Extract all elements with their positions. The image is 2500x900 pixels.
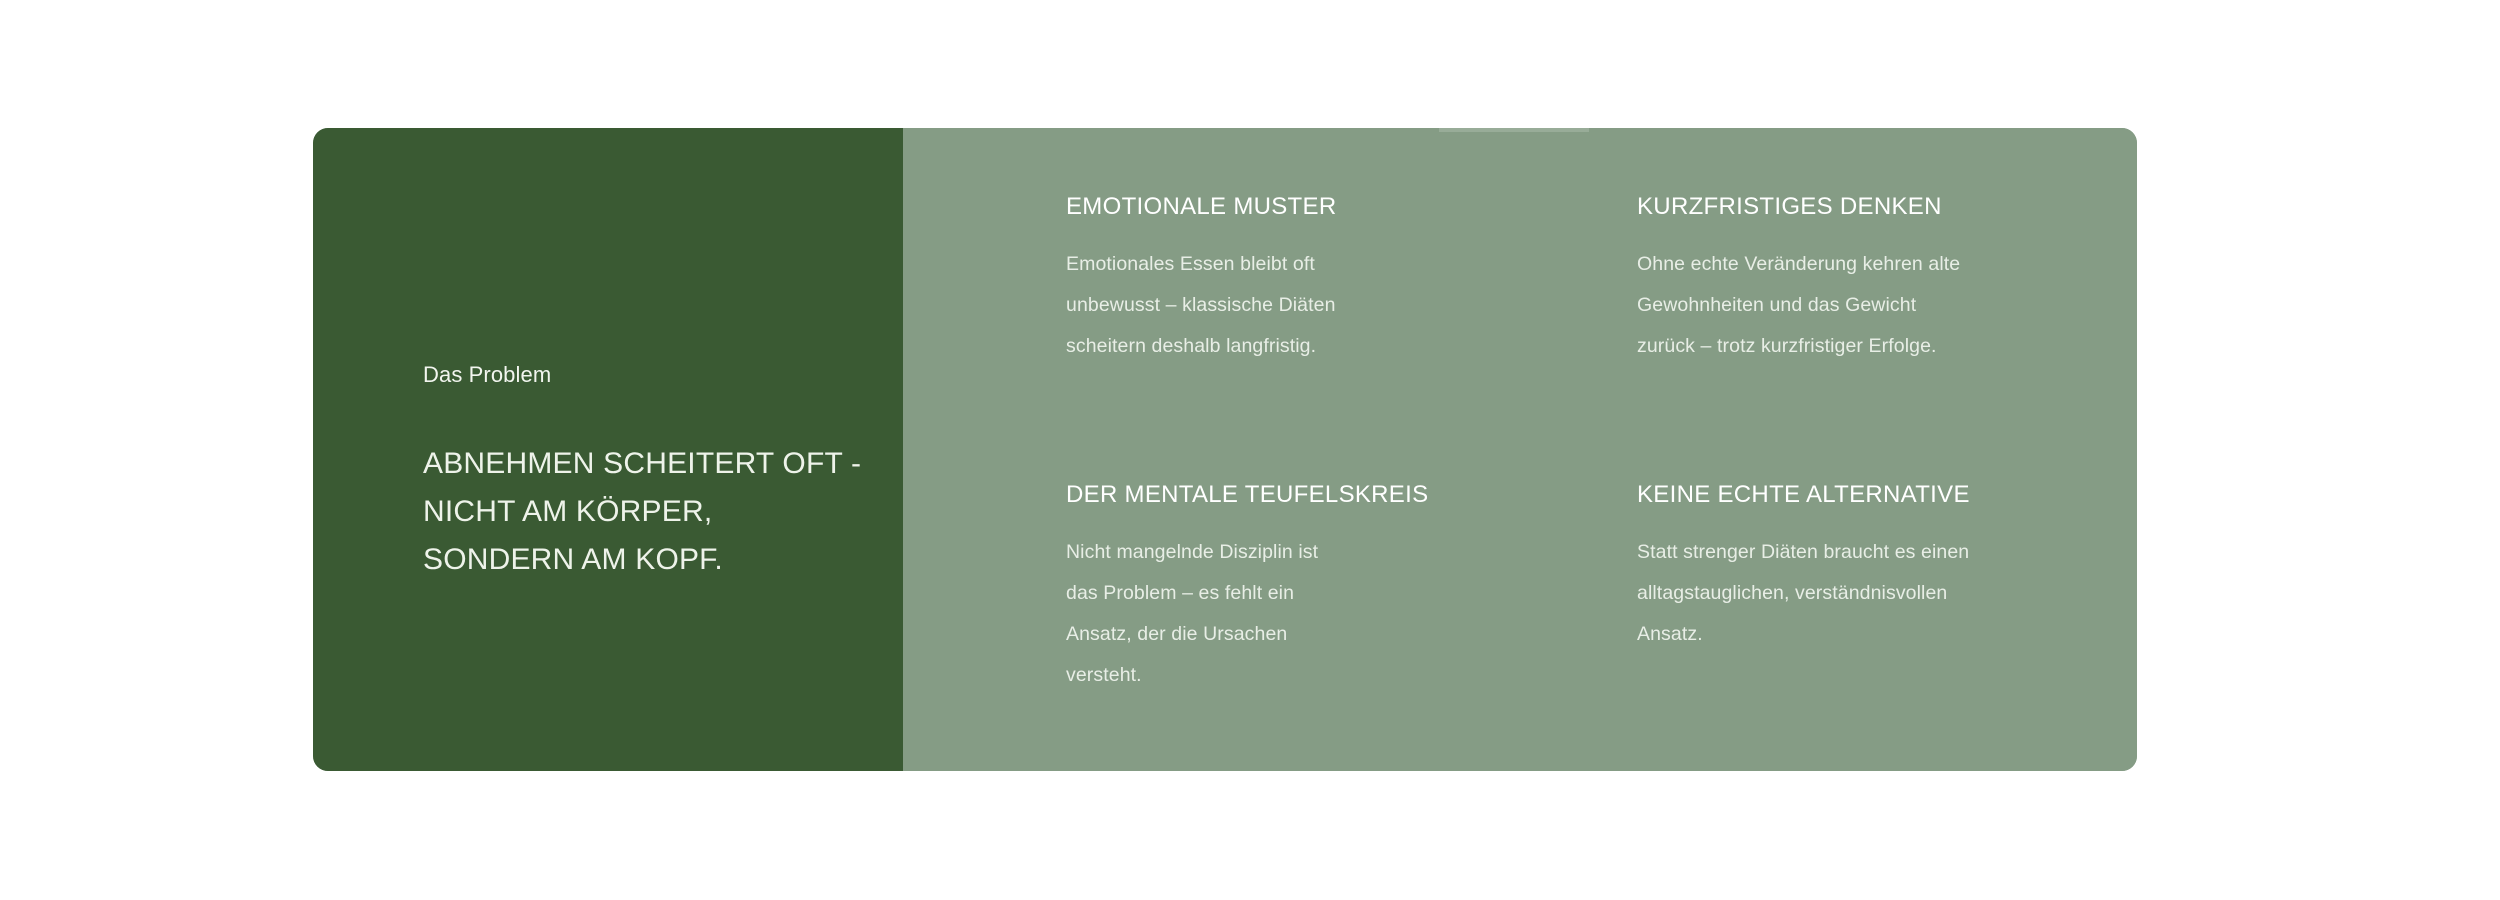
problem-section-panel: Das Problem ABNEHMEN SCHEITERT OFT - NIC… <box>313 128 2137 771</box>
problem-card-title: DER MENTALE TEUFELSKREIS <box>1066 480 1613 510</box>
problem-intro-pane: Das Problem ABNEHMEN SCHEITERT OFT - NIC… <box>313 128 903 771</box>
section-eyebrow-label: Das Problem <box>423 360 863 390</box>
problem-points-pane: EMOTIONALE MUSTER Emotionales Essen blei… <box>903 128 2137 771</box>
problem-card-kurzfristiges-denken: KURZFRISTIGES DENKEN Ohne echte Veränder… <box>1637 128 2137 416</box>
page-canvas: Das Problem ABNEHMEN SCHEITERT OFT - NIC… <box>0 0 2500 900</box>
problem-card-title: EMOTIONALE MUSTER <box>1066 192 1613 222</box>
problem-card-emotionale-muster: EMOTIONALE MUSTER Emotionales Essen blei… <box>1066 128 1637 416</box>
problem-intro-text-block: Das Problem ABNEHMEN SCHEITERT OFT - NIC… <box>423 360 863 584</box>
problem-points-grid: EMOTIONALE MUSTER Emotionales Essen blei… <box>1066 128 2137 771</box>
problem-card-body: Nicht mangelnde Disziplin ist das Proble… <box>1066 532 1346 696</box>
problem-card-title: KEINE ECHTE ALTERNATIVE <box>1637 480 2113 510</box>
page-title: ABNEHMEN SCHEITERT OFT - NICHT AM KÖRPER… <box>423 440 863 584</box>
problem-card-keine-echte-alternative: KEINE ECHTE ALTERNATIVE Statt strenger D… <box>1637 416 2137 771</box>
problem-card-body: Emotionales Essen bleibt oft unbewusst –… <box>1066 244 1366 367</box>
problem-card-body: Statt strenger Diäten braucht es einen a… <box>1637 532 1977 655</box>
problem-card-mentale-teufelskreis: DER MENTALE TEUFELSKREIS Nicht mangelnde… <box>1066 416 1637 771</box>
problem-card-body: Ohne echte Veränderung kehren alte Gewoh… <box>1637 244 1977 367</box>
problem-card-title: KURZFRISTIGES DENKEN <box>1637 192 2113 222</box>
